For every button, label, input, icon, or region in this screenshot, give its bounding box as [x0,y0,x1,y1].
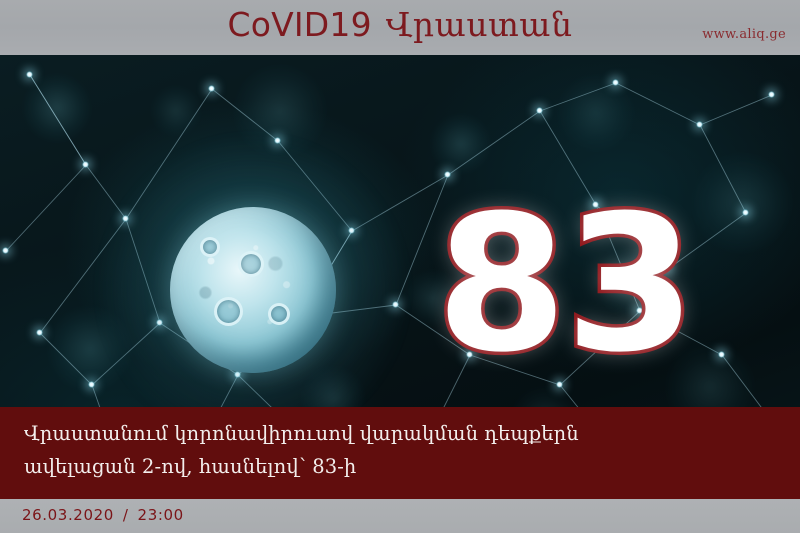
caption-line-2: ավելացան 2-ով, հասնելով՝ 83-ի [24,450,776,483]
site-url-label[interactable]: www.aliq.ge [702,27,786,42]
date-time-separator: / [123,506,129,524]
covid-infographic-poster: CoVID19Վրաստան www.aliq.ge [0,0,800,533]
page-title-latin: CoVID19 [227,5,371,44]
network-node [26,71,33,78]
page-title-armenian: Վրաստան [386,5,573,44]
timestamp: 26.03.2020/23:00 [22,506,184,524]
network-node [82,161,89,168]
virus-surface-ring [238,251,264,277]
network-node [612,79,619,86]
caption-text: Վրաստանում կորոնավիրուսով վարակման դեպքե… [24,417,776,483]
network-node [768,91,775,98]
network-node [536,107,543,114]
network-node [36,329,43,336]
coronavirus-particle-icon [128,165,378,415]
network-node [742,209,749,216]
caption-line-1: Վրաստանում կորոնավիրուսով վարակման դեպքե… [24,417,776,450]
time-label: 23:00 [138,506,184,524]
network-node [208,85,215,92]
virus-surface-ring [200,237,220,257]
virus-body [170,207,336,373]
caption-band: Վրաստանում կորոնավիրուսով վարակման դեպքե… [0,407,800,499]
case-count-display: 83 [400,185,730,385]
virus-surface-ring [214,297,243,326]
date-label: 26.03.2020 [22,506,114,524]
network-node [696,121,703,128]
header-bar: CoVID19Վրաստան www.aliq.ge [0,0,800,55]
network-node [2,247,9,254]
virus-surface-ring [268,303,290,325]
footer-bar: 26.03.2020/23:00 [0,499,800,533]
network-node [88,381,95,388]
page-title: CoVID19Վրաստան [0,2,800,48]
